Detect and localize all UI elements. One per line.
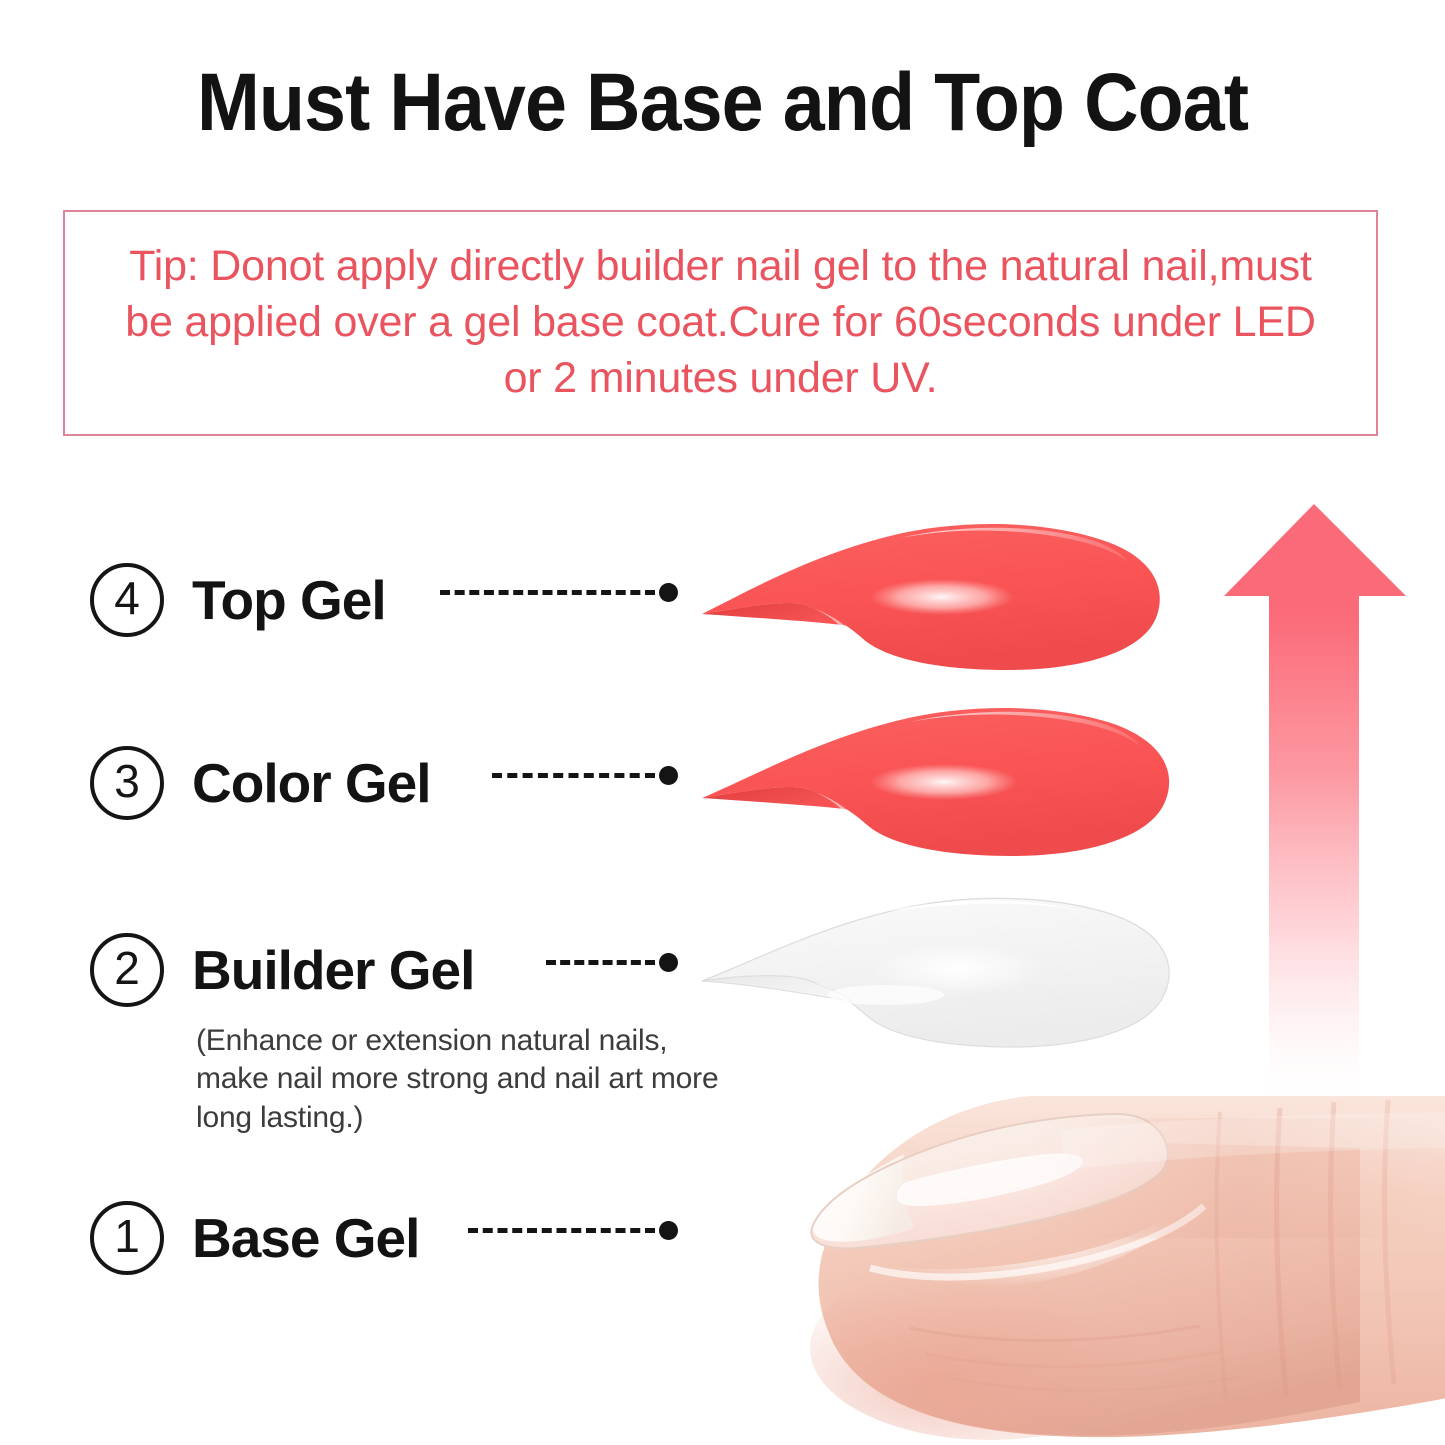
step-number-badge-1: 1 (90, 1201, 164, 1275)
leader-dot (659, 766, 678, 785)
leader-dashes (468, 1228, 655, 1233)
leader-line-base-gel (468, 1228, 678, 1233)
step-label-color-gel: Color Gel (192, 756, 431, 811)
step-item-top-gel: 4 Top Gel (90, 560, 386, 640)
page-title: Must Have Base and Top Coat (58, 62, 1387, 144)
step-number-badge-3: 3 (90, 746, 164, 820)
natural-nail-finger-photo (700, 1078, 1445, 1445)
builder-gel-note: (Enhance or extension natural nails, mak… (196, 1022, 741, 1137)
step-number-4: 4 (114, 575, 140, 621)
step-number-2: 2 (114, 945, 140, 991)
step-number-1: 1 (114, 1213, 140, 1259)
leader-dashes (440, 590, 655, 595)
upward-build-order-arrow (1222, 500, 1407, 1110)
step-label-builder-gel: Builder Gel (192, 943, 474, 998)
leader-dashes (546, 960, 655, 965)
builder-gel-droplet (690, 895, 1182, 1075)
leader-dot (659, 953, 678, 972)
step-item-builder-gel: 2 Builder Gel (90, 930, 474, 1010)
step-number-badge-4: 4 (90, 563, 164, 637)
leader-dashes (492, 773, 655, 778)
leader-line-color-gel (492, 773, 678, 778)
step-number-badge-2: 2 (90, 933, 164, 1007)
step-label-top-gel: Top Gel (192, 573, 386, 628)
top-gel-droplet (690, 518, 1170, 698)
step-number-3: 3 (114, 758, 140, 804)
leader-dot (659, 583, 678, 602)
step-item-base-gel: 1 Base Gel (90, 1198, 419, 1278)
infographic-page: Must Have Base and Top Coat Tip: Donot a… (0, 0, 1445, 1445)
step-label-base-gel: Base Gel (192, 1211, 419, 1266)
tip-callout-box: Tip: Donot apply directly builder nail g… (63, 210, 1378, 436)
leader-line-builder-gel (546, 960, 678, 965)
tip-text: Tip: Donot apply directly builder nail g… (113, 239, 1328, 407)
leader-dot (659, 1221, 678, 1240)
step-item-color-gel: 3 Color Gel (90, 743, 431, 823)
leader-line-top-gel (440, 590, 678, 595)
color-gel-droplet (690, 700, 1182, 880)
